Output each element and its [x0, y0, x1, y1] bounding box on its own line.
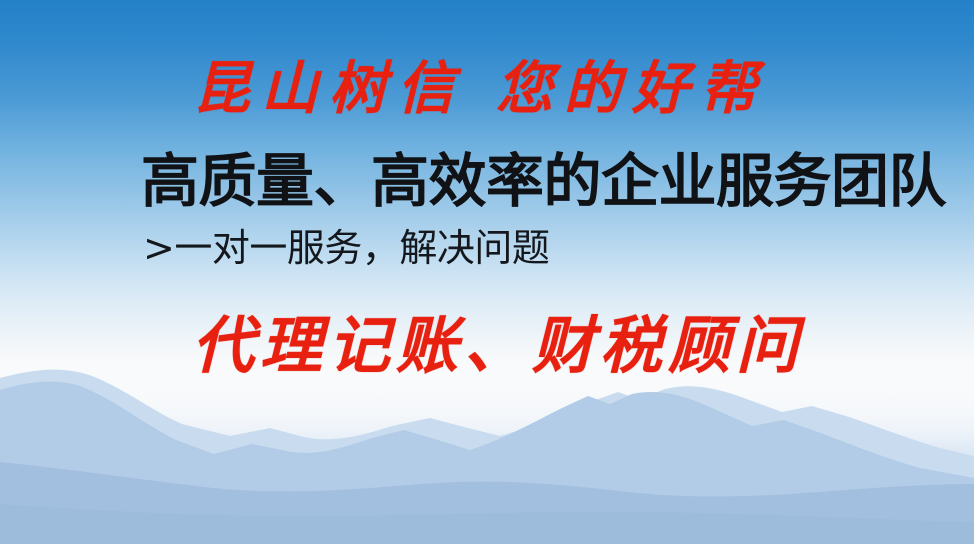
headline-company-tagline: 昆山树信 您的好帮: [193, 60, 768, 117]
headline-service-offer: 代理记账、财税顾问: [192, 315, 804, 377]
headline-service-bullet: >一对一服务，解决问题: [143, 229, 549, 267]
headline-service-promise: 高质量、高效率的企业服务团队: [141, 152, 946, 210]
headline-stack: 昆山树信 您的好帮 高质量、高效率的企业服务团队 >一对一服务，解决问题 代理记…: [0, 0, 974, 544]
promotional-banner: 昆山树信 您的好帮 高质量、高效率的企业服务团队 >一对一服务，解决问题 代理记…: [0, 0, 974, 544]
